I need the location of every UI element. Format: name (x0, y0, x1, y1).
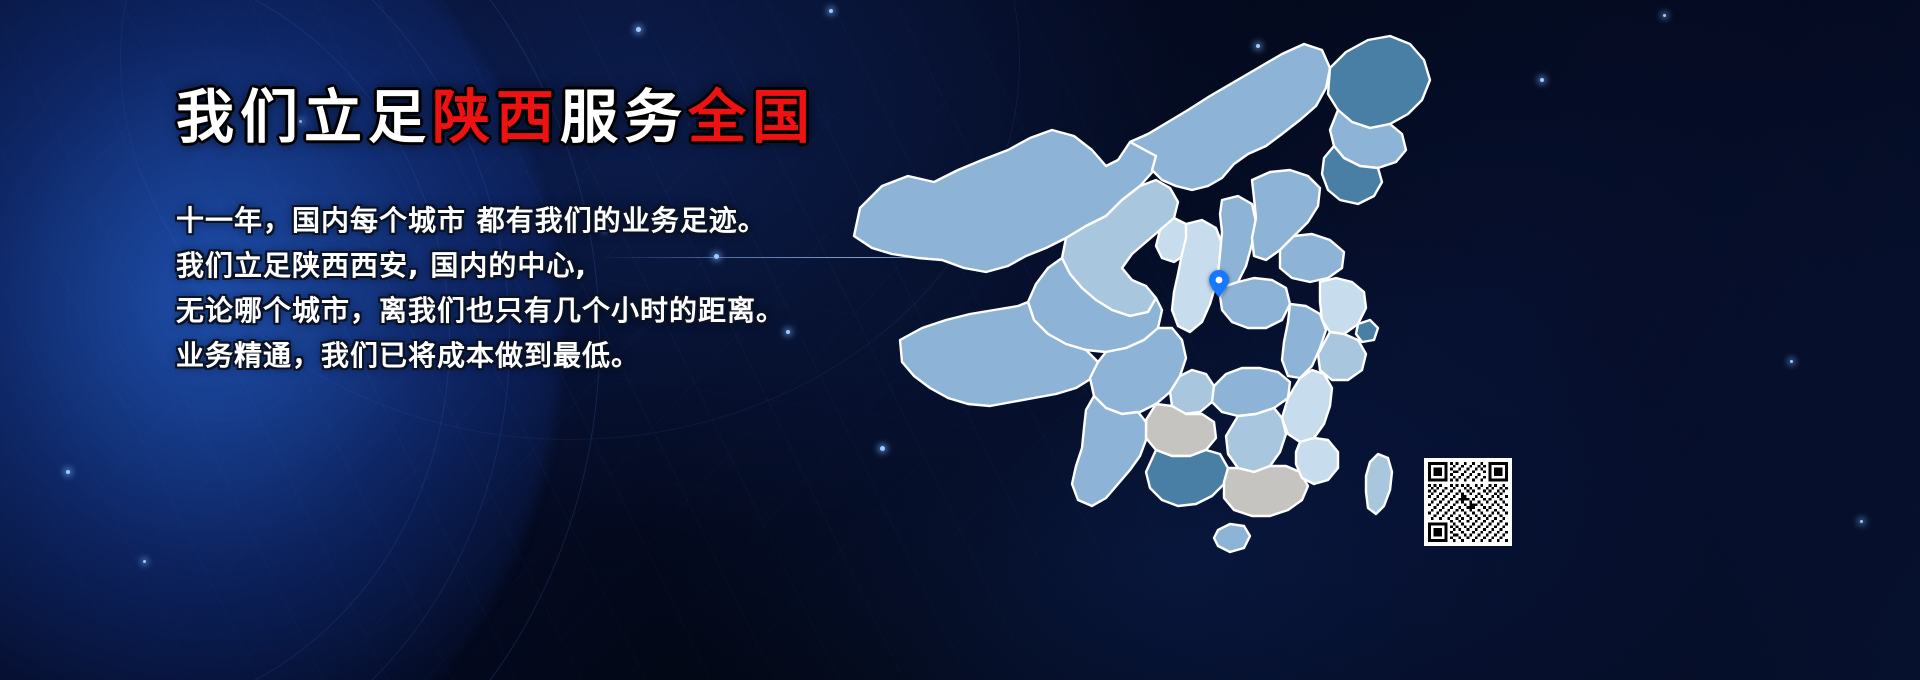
body-line: 我们立足陕西西安, 国内的中心, (176, 243, 785, 288)
headline-segment-4: 全国 (688, 83, 816, 151)
province-henan (1220, 278, 1290, 328)
province-guangxi (1146, 450, 1228, 506)
province-taiwan (1366, 454, 1392, 514)
headline-segment-1: 我们立足 (176, 83, 432, 151)
province-zhejiang (1318, 332, 1366, 380)
page-title: 我们立足陕西服务全国 (176, 88, 816, 146)
province-shanghai (1356, 320, 1378, 342)
qr-code[interactable] (1424, 458, 1512, 546)
promo-banner: 我们立足陕西服务全国 十一年，国内每个城市 都有我们的业务足迹。 我们立足陕西西… (0, 0, 1920, 680)
province-inner-mongolia (1130, 44, 1330, 190)
province-hubei (1212, 368, 1290, 416)
province-guangdong (1224, 466, 1308, 516)
body-line: 无论哪个城市，离我们也只有几个小时的距离。 (176, 288, 785, 333)
province-guizhou (1146, 404, 1216, 456)
headline-segment-3: 服务 (560, 83, 688, 151)
province-hunan (1226, 408, 1286, 472)
province-fujian (1296, 438, 1338, 484)
body-line: 业务精通，我们已将成本做到最低。 (176, 333, 785, 378)
province-hainan (1214, 524, 1250, 552)
body-line: 十一年，国内每个城市 都有我们的业务足迹。 (176, 198, 785, 243)
province-shandong (1280, 234, 1344, 282)
headline-segment-2: 陕西 (432, 83, 560, 151)
body-copy: 十一年，国内每个城市 都有我们的业务足迹。 我们立足陕西西安, 国内的中心, 无… (176, 198, 785, 378)
province-yunnan (1072, 396, 1146, 506)
